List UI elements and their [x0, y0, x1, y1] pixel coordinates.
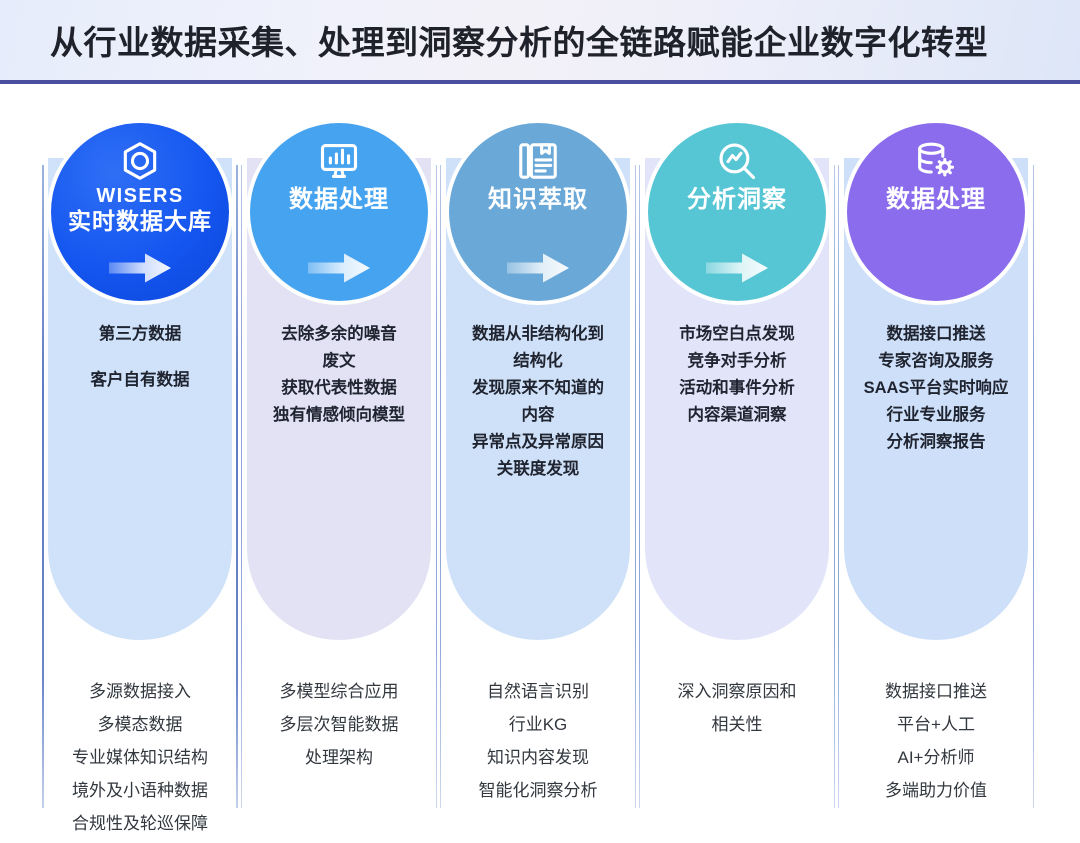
flow-arrow-icon [109, 251, 171, 285]
lower-feature-item: 处理架构 [247, 741, 431, 774]
upper-feature-item: 结构化 [448, 348, 628, 375]
stage-title: 分析洞察 [687, 185, 787, 214]
upper-feature-item: 废文 [249, 348, 429, 375]
upper-feature-list: 数据接口推送专家咨询及服务SAAS平台实时响应行业专业服务分析洞察报告 [846, 321, 1026, 456]
stage-title: 数据处理 [289, 185, 389, 214]
wisers-hexagon-icon [118, 139, 162, 183]
upper-feature-item: 内容 [448, 402, 628, 429]
lower-feature-item: 多模态数据 [48, 708, 232, 741]
lower-feature-list: 自然语言识别行业KG知识内容发现智能化洞察分析 [446, 675, 630, 807]
lower-feature-item: 境外及小语种数据 [48, 774, 232, 807]
monitor-chart-icon [317, 139, 361, 183]
upper-feature-list: 市场空白点发现竞争对手分析活动和事件分析内容渠道洞察 [647, 321, 827, 429]
brand-label: WISERS [96, 184, 183, 208]
flow-arrow-icon [706, 251, 768, 285]
page-title: 从行业数据采集、处理到洞察分析的全链路赋能企业数字化转型 [50, 16, 988, 64]
lower-feature-list: 多模型综合应用多层次智能数据处理架构 [247, 675, 431, 774]
lower-feature-list: 数据接口推送平台+人工AI+分析师多端助力价值 [844, 675, 1028, 807]
column-divider-left [440, 165, 441, 808]
column-divider-right [436, 165, 437, 808]
upper-feature-item: 内容渠道洞察 [647, 402, 827, 429]
lower-feature-item: 深入洞察原因和 [645, 675, 829, 708]
book-bookmark-icon [516, 139, 560, 183]
upper-feature-item: 发现原来不知道的 [448, 375, 628, 402]
lower-feature-item: 智能化洞察分析 [446, 774, 630, 807]
lower-feature-list: 深入洞察原因和相关性 [645, 675, 829, 741]
database-gear-icon [914, 139, 958, 183]
upper-feature-item: 第三方数据 [50, 321, 230, 348]
lower-feature-item: 平台+人工 [844, 708, 1028, 741]
upper-feature-item: 数据接口推送 [846, 321, 1026, 348]
lower-feature-item: 专业媒体知识结构 [48, 741, 232, 774]
stage-title: 实时数据大库 [68, 208, 212, 235]
column-divider-left [241, 165, 242, 808]
upper-feature-item: 分析洞察报告 [846, 429, 1026, 456]
flow-arrow-icon [507, 251, 569, 285]
upper-feature-list: 去除多余的噪音废文获取代表性数据独有情感倾向模型 [249, 321, 429, 429]
upper-feature-item: 市场空白点发现 [647, 321, 827, 348]
stage-circle-data-processing-service[interactable]: 数据处理 [843, 119, 1029, 305]
upper-feature-item: 专家咨询及服务 [846, 348, 1026, 375]
stage-circle-knowledge-extraction[interactable]: 知识萃取 [445, 119, 631, 305]
pipeline-column-analysis-insight[interactable]: 分析洞察市场空白点发现竞争对手分析活动和事件分析内容渠道洞察深入洞察原因和相关性 [639, 113, 835, 838]
lower-feature-item: 数据接口推送 [844, 675, 1028, 708]
lower-feature-item: 多层次智能数据 [247, 708, 431, 741]
lower-feature-item: AI+分析师 [844, 741, 1028, 774]
upper-feature-item: 去除多余的噪音 [249, 321, 429, 348]
column-divider-right [236, 165, 238, 808]
stage-circle-realtime-data-warehouse[interactable]: WISERS实时数据大库 [47, 119, 233, 305]
lower-feature-item: 合规性及轮巡保障 [48, 807, 232, 840]
flow-arrow-icon [308, 251, 370, 285]
upper-feature-list: 第三方数据客户自有数据 [50, 321, 230, 413]
lower-feature-item: 知识内容发现 [446, 741, 630, 774]
column-divider-left [42, 165, 44, 808]
upper-feature-item: 客户自有数据 [50, 367, 230, 394]
search-trend-icon [715, 139, 759, 183]
lower-feature-item: 相关性 [645, 708, 829, 741]
lower-feature-list: 多源数据接入多模态数据专业媒体知识结构境外及小语种数据合规性及轮巡保障 [48, 675, 232, 840]
lower-feature-item: 多模型综合应用 [247, 675, 431, 708]
upper-feature-list: 数据从非结构化到结构化发现原来不知道的内容异常点及异常原因关联度发现 [448, 321, 628, 483]
lower-feature-item: 行业KG [446, 708, 630, 741]
column-divider-left [639, 165, 640, 808]
pipeline-column-knowledge-extraction[interactable]: 知识萃取数据从非结构化到结构化发现原来不知道的内容异常点及异常原因关联度发现自然… [440, 113, 636, 838]
diagram-stage: WISERS实时数据大库第三方数据客户自有数据多源数据接入多模态数据专业媒体知识… [0, 88, 1080, 843]
stage-title: 知识萃取 [488, 185, 588, 214]
upper-feature-item: 关联度发现 [448, 456, 628, 483]
stage-title: 数据处理 [886, 185, 986, 214]
upper-feature-item: 数据从非结构化到 [448, 321, 628, 348]
upper-feature-item: 竞争对手分析 [647, 348, 827, 375]
column-divider-left [838, 165, 839, 808]
stage-circle-analysis-insight[interactable]: 分析洞察 [644, 119, 830, 305]
stage-circle-data-processing[interactable]: 数据处理 [246, 119, 432, 305]
pipeline-column-data-processing[interactable]: 数据处理去除多余的噪音废文获取代表性数据独有情感倾向模型多模型综合应用多层次智能… [241, 113, 437, 838]
column-divider-right [834, 165, 835, 808]
header-band: 从行业数据采集、处理到洞察分析的全链路赋能企业数字化转型 [0, 0, 1080, 84]
upper-feature-item: 异常点及异常原因 [448, 429, 628, 456]
column-divider-right [1033, 165, 1034, 808]
lower-feature-item: 多端助力价值 [844, 774, 1028, 807]
pipeline-column-data-processing-service[interactable]: 数据处理数据接口推送专家咨询及服务SAAS平台实时响应行业专业服务分析洞察报告数… [838, 113, 1034, 838]
lower-feature-item: 自然语言识别 [446, 675, 630, 708]
pipeline-column-realtime-data-warehouse[interactable]: WISERS实时数据大库第三方数据客户自有数据多源数据接入多模态数据专业媒体知识… [42, 113, 238, 838]
upper-feature-item: SAAS平台实时响应 [846, 375, 1026, 402]
upper-feature-item: 活动和事件分析 [647, 375, 827, 402]
pipeline-columns: WISERS实时数据大库第三方数据客户自有数据多源数据接入多模态数据专业媒体知识… [42, 113, 1038, 838]
upper-feature-item: 获取代表性数据 [249, 375, 429, 402]
column-divider-right [635, 165, 636, 808]
upper-feature-item: 独有情感倾向模型 [249, 402, 429, 429]
lower-feature-item: 多源数据接入 [48, 675, 232, 708]
upper-feature-item: 行业专业服务 [846, 402, 1026, 429]
